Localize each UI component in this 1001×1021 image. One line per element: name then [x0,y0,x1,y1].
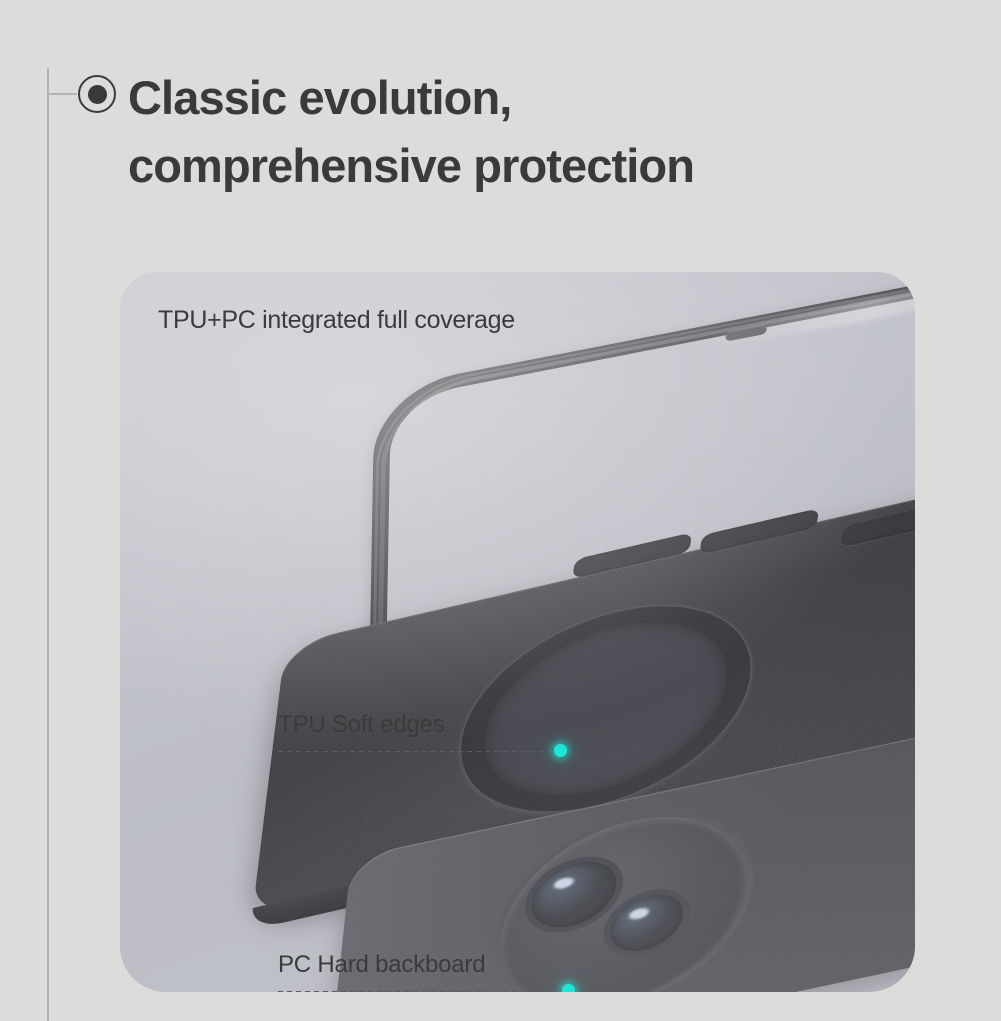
page-title-line-2: comprehensive protection [128,132,918,200]
camera-lens-secondary [608,888,686,958]
callout-marker-dot-icon [554,744,567,757]
product-feature-image: Classic evolution, comprehensive protect… [0,0,1001,1021]
callout-leader-line [278,991,568,992]
tpu-gloss-highlight [704,272,915,352]
callout-marker-dot-icon [562,984,575,992]
callout-leader-line [278,751,560,752]
product-artwork [120,272,915,992]
bullseye-icon [78,75,116,113]
vertical-rule-icon [47,68,49,1021]
tpu-notch-cutout [726,324,767,342]
page-title: Classic evolution, comprehensive protect… [128,64,918,200]
rule-tick-icon [49,93,77,95]
page-title-line-1: Classic evolution, [128,64,918,132]
panel-caption: TPU+PC integrated full coverage [158,306,515,335]
camera-lens-primary [529,854,620,935]
callout-label: PC Hard backboard [278,951,485,979]
feature-panel: TPU+PC integrated full coverage TPU Soft… [120,272,915,992]
callout-label: TPU Soft edges [278,711,445,739]
camera-island [492,794,756,992]
